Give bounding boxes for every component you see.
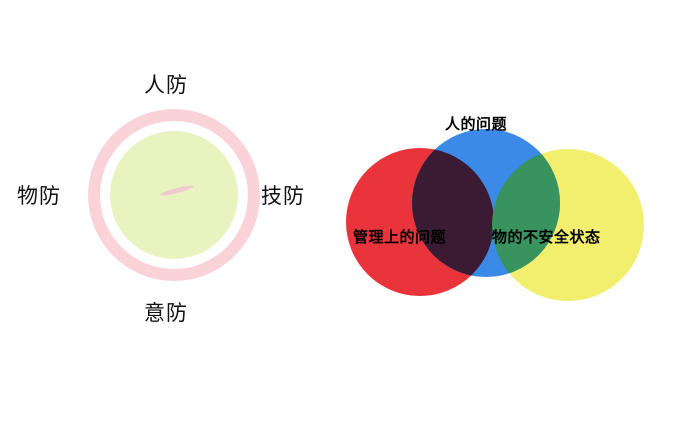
venn-label-management: 管理上的问题 <box>353 230 446 245</box>
four-defenses-concentric-diagram: 人防 技防 意防 物防 <box>0 55 340 355</box>
ring-label-bottom: 意防 <box>144 303 188 324</box>
ring-label-top: 人防 <box>144 75 188 96</box>
venn-circles-svg <box>335 55 698 355</box>
venn-label-human: 人的问题 <box>445 117 507 132</box>
venn-label-unsafe-object-state: 物的不安全状态 <box>492 230 601 245</box>
ring-label-right: 技防 <box>261 186 305 207</box>
diagram-canvas: 人防 技防 意防 物防 <box>0 0 698 424</box>
inner-core-disc <box>110 131 238 259</box>
accident-cause-venn-diagram: 人的问题 管理上的问题 物的不安全状态 <box>335 55 698 355</box>
ring-label-left: 物防 <box>17 186 61 207</box>
